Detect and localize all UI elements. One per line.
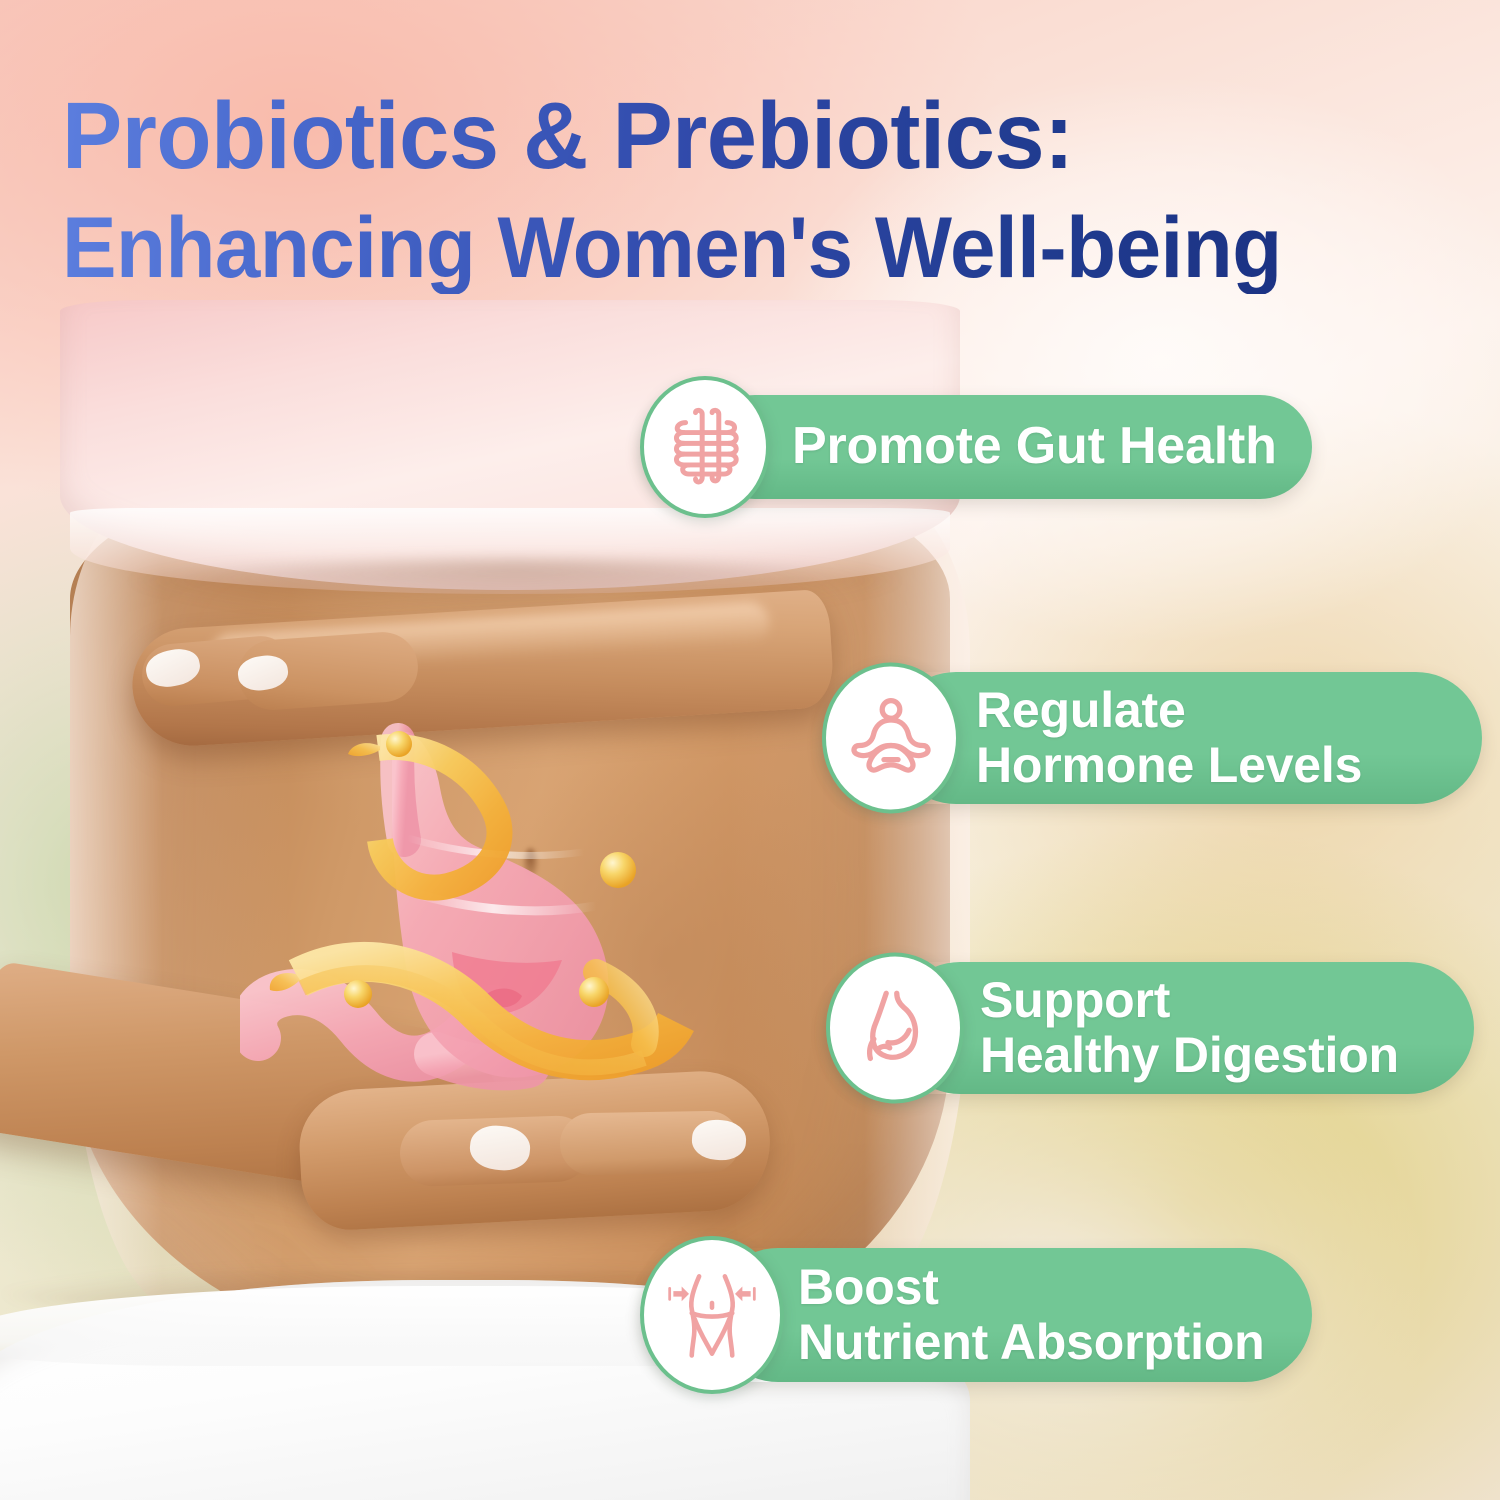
benefit-pill-promote-gut-health[interactable]: Promote Gut Health <box>640 395 1312 499</box>
benefit-pill-boost-nutrient-absorption[interactable]: Boost Nutrient Absorption <box>640 1248 1312 1382</box>
benefit-pill-label: Promote Gut Health <box>792 418 1277 475</box>
headline-line-1: Probiotics & Prebiotics: <box>62 86 1326 187</box>
stomach-with-ribbon-illustration <box>240 720 710 1140</box>
stomach-icon-badge <box>826 953 964 1104</box>
benefit-pill-label: Boost Nutrient Absorption <box>798 1260 1265 1370</box>
stomach-icon <box>851 984 939 1072</box>
meditation-icon <box>847 694 935 782</box>
benefit-pill-support-healthy-digestion[interactable]: Support Healthy Digestion <box>826 962 1474 1094</box>
benefit-pill-label: Regulate Hormone Levels <box>976 683 1362 793</box>
benefit-pill-regulate-hormone-levels[interactable]: Regulate Hormone Levels <box>822 672 1482 804</box>
headline-line-2: Enhancing Women's Well-being <box>62 203 1326 294</box>
infographic-poster: Probiotics & Prebiotics: Enhancing Women… <box>0 0 1500 1500</box>
slim-waist-icon <box>666 1269 758 1361</box>
headline: Probiotics & Prebiotics: Enhancing Women… <box>62 86 1392 294</box>
slim-waist-icon-badge <box>640 1236 784 1394</box>
benefit-pill-label: Support Healthy Digestion <box>980 973 1399 1083</box>
intestine-icon <box>664 406 747 489</box>
meditation-icon-badge <box>822 663 960 814</box>
intestine-icon-badge <box>640 376 770 518</box>
